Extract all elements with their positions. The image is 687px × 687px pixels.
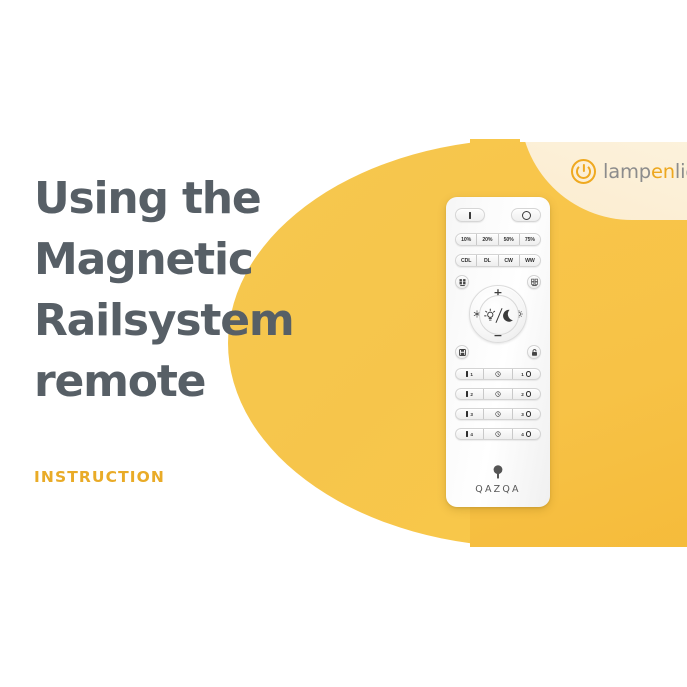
- brightness-preset-row: 10% 20% 50% 75%: [455, 233, 541, 246]
- zone-1-off-label: 1: [521, 372, 524, 377]
- brightness-preset-75[interactable]: 75%: [520, 234, 540, 245]
- logo-backdrop-top-mask: [520, 108, 687, 142]
- power-on-button[interactable]: [455, 208, 485, 222]
- grid-on-icon: [458, 278, 467, 287]
- lock-button[interactable]: [527, 345, 541, 359]
- cct-preset-cdl[interactable]: CDL: [456, 255, 477, 266]
- power-off-icon: [522, 211, 531, 220]
- zone-off-icon: [526, 411, 532, 417]
- zone-2-on-label: 2: [470, 392, 473, 397]
- zone-1-timer-button[interactable]: [484, 369, 512, 379]
- zone-3-off-label: 3: [521, 412, 524, 417]
- title-line-1: Using the: [34, 168, 364, 229]
- zone-3-on-button[interactable]: 3: [456, 409, 484, 419]
- cct-preset-cw[interactable]: CW: [499, 255, 520, 266]
- colour-temperature-row: CDL DL CW WW: [455, 254, 541, 267]
- slide-canvas: lampenlicht.n Using the Magnetic Railsys…: [0, 0, 687, 687]
- zone-1-on-button[interactable]: 1: [456, 369, 484, 379]
- zone-row-3: 3 3: [455, 408, 541, 420]
- clock-icon: [495, 431, 501, 437]
- scene-on-button[interactable]: [455, 275, 469, 289]
- zone-3-off-button[interactable]: 3: [513, 409, 540, 419]
- zone-row-4: 4 4: [455, 428, 541, 440]
- brightness-preset-20[interactable]: 20%: [477, 234, 498, 245]
- grid-off-icon: [530, 278, 539, 287]
- logo-text-lamp: lamp: [603, 160, 651, 183]
- title-line-2: Magnetic: [34, 229, 364, 290]
- clock-icon: [495, 391, 501, 397]
- zone-4-off-label: 4: [521, 432, 524, 437]
- zone-on-icon: [466, 411, 468, 417]
- power-on-icon: [469, 212, 472, 219]
- zone-row-1: 1 1: [455, 368, 541, 380]
- lampenlicht-logo-text: lampenlicht.n: [603, 160, 687, 183]
- zone-on-icon: [466, 391, 468, 397]
- title-line-4: remote: [34, 351, 364, 412]
- sun-moon-icon: [483, 307, 515, 324]
- zone-row-2: 2 2: [455, 388, 541, 400]
- logo-text-licht: licht: [675, 160, 687, 183]
- zone-4-on-button[interactable]: 4: [456, 429, 484, 439]
- zone-3-timer-button[interactable]: [484, 409, 512, 419]
- zone-4-off-button[interactable]: 4: [513, 429, 540, 439]
- zone-2-off-label: 2: [521, 392, 524, 397]
- lampenlicht-logo[interactable]: lampenlicht.n: [571, 159, 687, 184]
- remote-control-device: 10% 20% 50% 75% CDL DL CW WW: [446, 197, 550, 507]
- control-dial[interactable]: + −: [469, 285, 527, 343]
- zone-off-icon: [526, 371, 532, 377]
- power-off-button[interactable]: [511, 208, 541, 222]
- zone-2-on-button[interactable]: 2: [456, 389, 484, 399]
- kicker-label: INSTRUCTION: [34, 468, 165, 486]
- zone-4-timer-button[interactable]: [484, 429, 512, 439]
- power-button-icon: [571, 159, 596, 184]
- scene-off-button[interactable]: [527, 275, 541, 289]
- lock-icon: [530, 348, 539, 357]
- cct-preset-ww[interactable]: WW: [520, 255, 540, 266]
- zone-4-on-label: 4: [470, 432, 473, 437]
- zone-off-icon: [526, 431, 532, 437]
- save-icon: [458, 348, 467, 357]
- zone-1-off-button[interactable]: 1: [513, 369, 540, 379]
- zone-2-timer-button[interactable]: [484, 389, 512, 399]
- dial-center-button[interactable]: [479, 295, 519, 335]
- zone-1-on-label: 1: [470, 372, 473, 377]
- qazqa-lamp-icon: [491, 464, 505, 480]
- save-scene-button[interactable]: [455, 345, 469, 359]
- clock-icon: [495, 371, 501, 377]
- zone-off-icon: [526, 391, 532, 397]
- clock-icon: [495, 411, 501, 417]
- page-title: Using the Magnetic Railsystem remote: [34, 168, 364, 412]
- zone-on-icon: [466, 371, 468, 377]
- qazqa-wordmark: QAZQA: [475, 484, 520, 495]
- brightness-preset-10[interactable]: 10%: [456, 234, 477, 245]
- logo-text-en: en: [651, 160, 675, 183]
- zone-2-off-button[interactable]: 2: [513, 389, 540, 399]
- zone-3-on-label: 3: [470, 412, 473, 417]
- brightness-preset-50[interactable]: 50%: [499, 234, 520, 245]
- zone-on-icon: [466, 431, 468, 437]
- power-button-row: [455, 208, 541, 222]
- qazqa-branding: QAZQA: [446, 464, 550, 495]
- title-line-3: Railsystem: [34, 290, 364, 351]
- cct-preset-dl[interactable]: DL: [477, 255, 498, 266]
